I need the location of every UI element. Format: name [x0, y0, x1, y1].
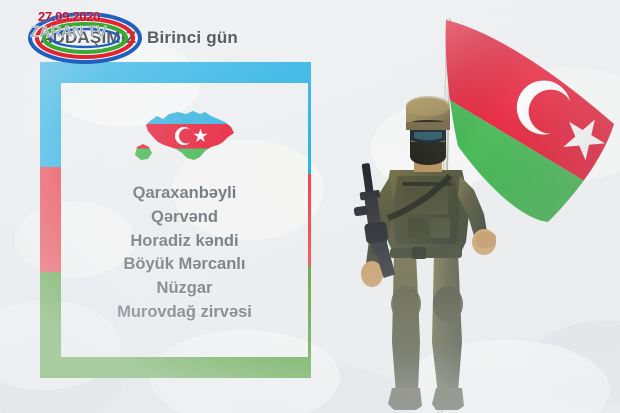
list-item: Horadiz kəndi — [130, 231, 238, 253]
panel-content: Qaraxanbəyli Qərvənd Horadiz kəndi Böyük… — [61, 83, 308, 357]
logo-wordmark: ZARAN TV — [30, 24, 106, 42]
list-item: Böyük Mərcanlı — [124, 254, 246, 276]
frame-bottom-border — [61, 357, 311, 378]
frame-left-border — [40, 62, 61, 378]
frame-segment-red — [40, 167, 61, 272]
list-item: Qərvənd — [151, 207, 218, 229]
screenshot-canvas: ADDAŞIMIZ: Birinci gün 27.09.2020 ZARAN … — [0, 0, 620, 413]
list-item: Qaraxanbəyli — [133, 183, 237, 205]
liberated-places-panel: Qaraxanbəyli Qərvənd Horadiz kəndi Böyük… — [40, 62, 311, 378]
azerbaijan-map-icon — [130, 99, 240, 173]
soldier-photo — [310, 0, 620, 413]
list-item: Murovdağ zirvəsi — [117, 302, 252, 324]
list-item: Nüzgar — [157, 278, 213, 300]
broadcast-date: 27.09.2020 — [38, 9, 100, 24]
soldier-figure — [338, 92, 518, 413]
frame-segment-cyan — [40, 62, 61, 167]
place-name-list: Qaraxanbəyli Qərvənd Horadiz kəndi Böyük… — [117, 183, 252, 324]
frame-segment-green — [40, 272, 61, 378]
